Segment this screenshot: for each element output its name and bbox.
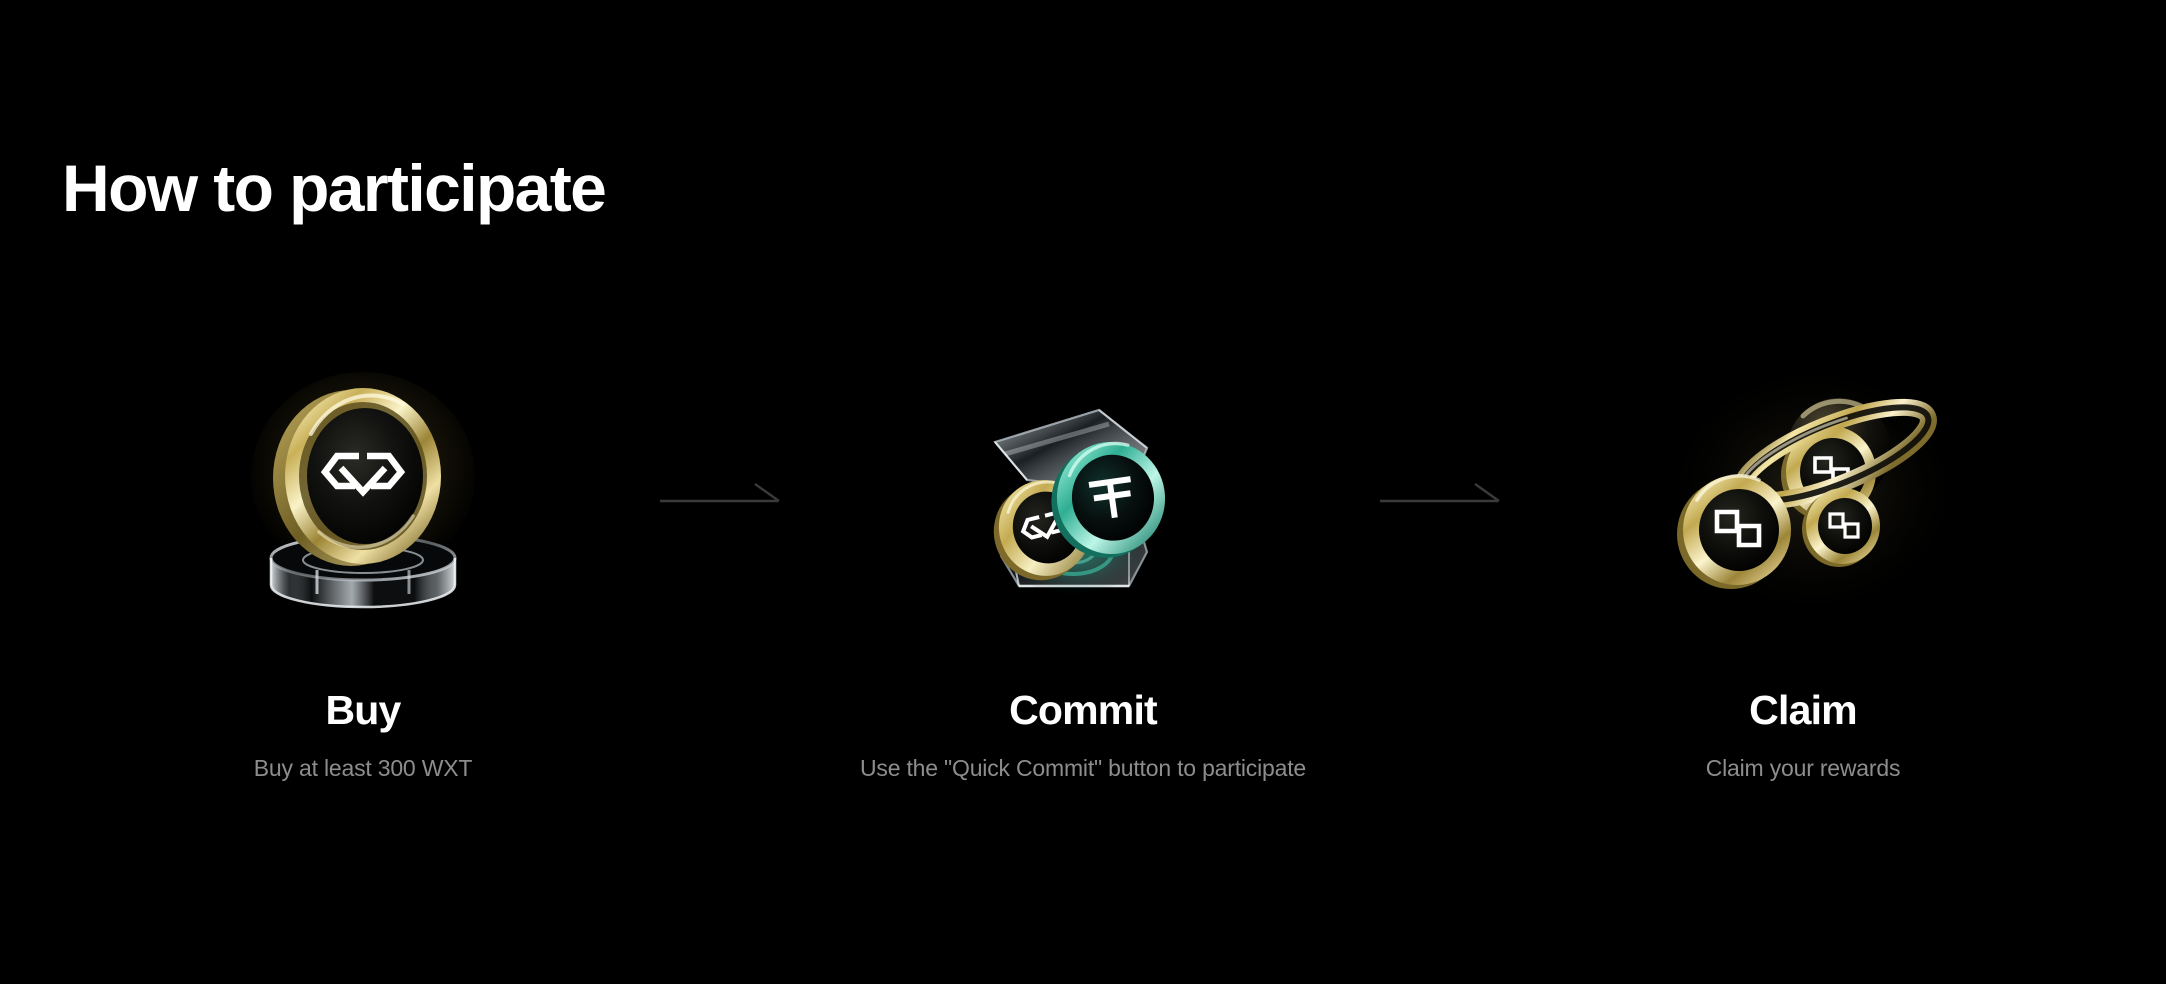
step-claim: Claim Claim your rewards: [1523, 380, 2083, 783]
step-title: Commit: [1009, 688, 1157, 733]
step-description: Use the "Quick Commit" button to partici…: [860, 755, 1306, 783]
step-title: Buy: [325, 688, 400, 733]
gold-coin-on-pedestal-icon: [213, 380, 513, 610]
arrow-right-icon: [1363, 380, 1523, 610]
gold-coins-with-ring-icon: [1653, 380, 1953, 610]
step-description: Buy at least 300 WXT: [254, 755, 472, 783]
arrow-right-icon: [643, 380, 803, 610]
step-buy: Buy Buy at least 300 WXT: [83, 380, 643, 783]
step-title: Claim: [1749, 688, 1857, 733]
step-commit: Commit Use the "Quick Commit" button to …: [803, 380, 1363, 783]
how-to-participate-steps: Buy Buy at least 300 WXT: [0, 380, 2166, 783]
wxt-coin: [273, 388, 441, 566]
page-title: How to participate: [62, 155, 605, 221]
open-glass-chest-with-coins-icon: [933, 380, 1233, 610]
step-description: Claim your rewards: [1706, 755, 1901, 783]
